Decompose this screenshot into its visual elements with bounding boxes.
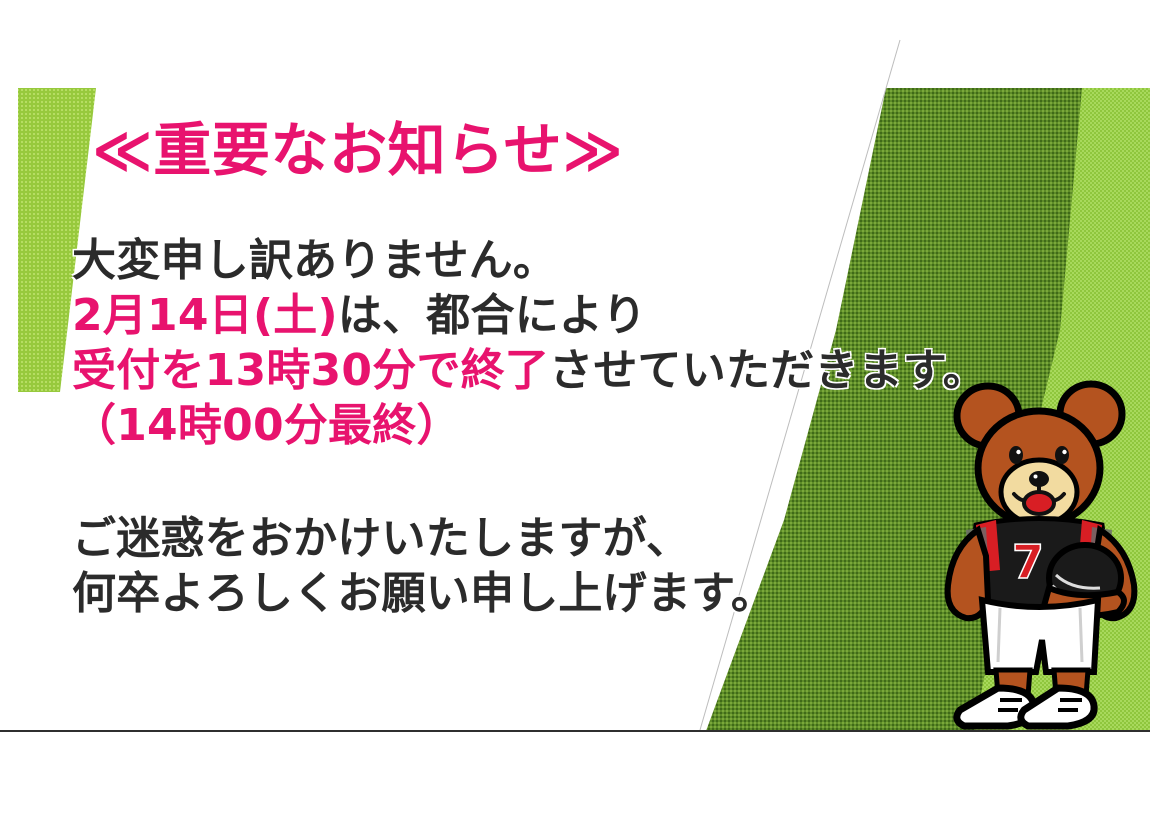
text-segment: ご迷惑をおかけいたしますが、 [72,513,690,564]
svg-text:7: 7 [1012,535,1044,589]
notice-line-inconvenience: ご迷惑をおかけいたしますが、 [72,511,1002,566]
notice-body: 大変申し訳ありません。 2月14日(土)は、都合により 受付を13時30分で終了… [72,233,1002,621]
notice-line-date: 2月14日(土)は、都合により [72,288,1002,343]
text-segment: させていただきます。 [549,345,987,396]
text-segment-final-time: （14時00分最終） [72,400,461,451]
text-segment: は、都合により [338,290,647,341]
notice-poster: 7 [0,0,1169,826]
text-segment-date: 2月14日(土) [72,290,338,341]
notice-line-regards: 何卒よろしくお願い申し上げます。 [72,566,1002,621]
text-segment: 何卒よろしくお願い申し上げます。 [72,568,775,619]
artwork-baseline-rule [0,730,1150,732]
notice-line-closing-time: 受付を13時30分で終了させていただきます。 [72,343,1002,398]
text-segment-reception-close: 受付を13時30分で終了 [72,345,549,396]
page-title: ≪重要なお知らせ≫ [92,103,624,187]
text-segment: 大変申し訳ありません。 [72,235,557,286]
notice-line-final-time: （14時00分最終） [72,398,1002,453]
notice-line-apology: 大変申し訳ありません。 [72,233,1002,288]
